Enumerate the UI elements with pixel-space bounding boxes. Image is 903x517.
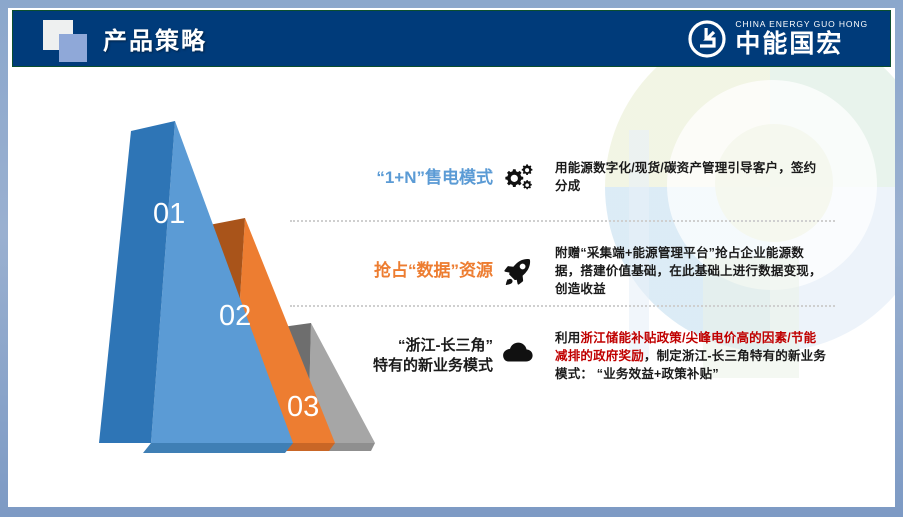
logo-english: CHINA ENERGY GUO HONG [735,20,868,29]
strategy-desc-1: 用能源数字化/现货/碳资产管理引导客户，签约分成 [555,160,827,196]
rocket-icon [493,257,541,287]
strategy-row-3: “浙江-长三角” 特有的新业务模式 利用浙江储能补贴政策/尖峰电价高的因素/节能… [263,330,863,383]
circle-g-logo-icon [687,19,727,59]
pyramid-number-02: 02 [219,300,251,332]
cloud-icon [493,330,541,364]
strategy-title-3: “浙江-长三角” 特有的新业务模式 [263,330,493,376]
slide-header: 产品策略 CHINA ENERGY GUO HONG 中能国宏 [12,10,891,67]
strategy-desc-2: 附赠“采集端+能源管理平台”抢占企业能源数据，搭建价值基础，在此基础上进行数据变… [555,245,827,298]
logo-text-block: CHINA ENERGY GUO HONG 中能国宏 [735,20,868,57]
logo-chinese: 中能国宏 [735,32,868,57]
strategy-desc-3-prefix: 利用 [555,331,580,345]
strategy-title-2: 抢占“数据”资源 [263,260,493,282]
strategy-row-1: “1+N”售电模式 用能源数字化/现货/碳资产管理引导客户，签约分成 [263,160,863,196]
pyramid-number-01: 01 [153,198,185,230]
pyramid-number-03: 03 [287,391,319,423]
slide-canvas: 产品策略 CHINA ENERGY GUO HONG 中能国宏 [8,8,895,507]
strategy-title-1: “1+N”售电模式 [263,167,493,189]
two-squares-icon [43,17,97,61]
company-logo: CHINA ENERGY GUO HONG 中能国宏 [687,19,868,59]
slide-root: 产品策略 CHINA ENERGY GUO HONG 中能国宏 [0,0,903,517]
gears-icon [493,163,541,193]
square-blue [59,34,87,62]
page-title: 产品策略 [103,21,207,56]
strategy-desc-3: 利用浙江储能补贴政策/尖峰电价高的因素/节能减排的政府奖励，制定浙江-长三角特有… [555,330,827,383]
strategy-row-2: 抢占“数据”资源 附赠“采集端+能源管理平台”抢占企业能源数据，搭建价值基础，在… [263,245,863,298]
